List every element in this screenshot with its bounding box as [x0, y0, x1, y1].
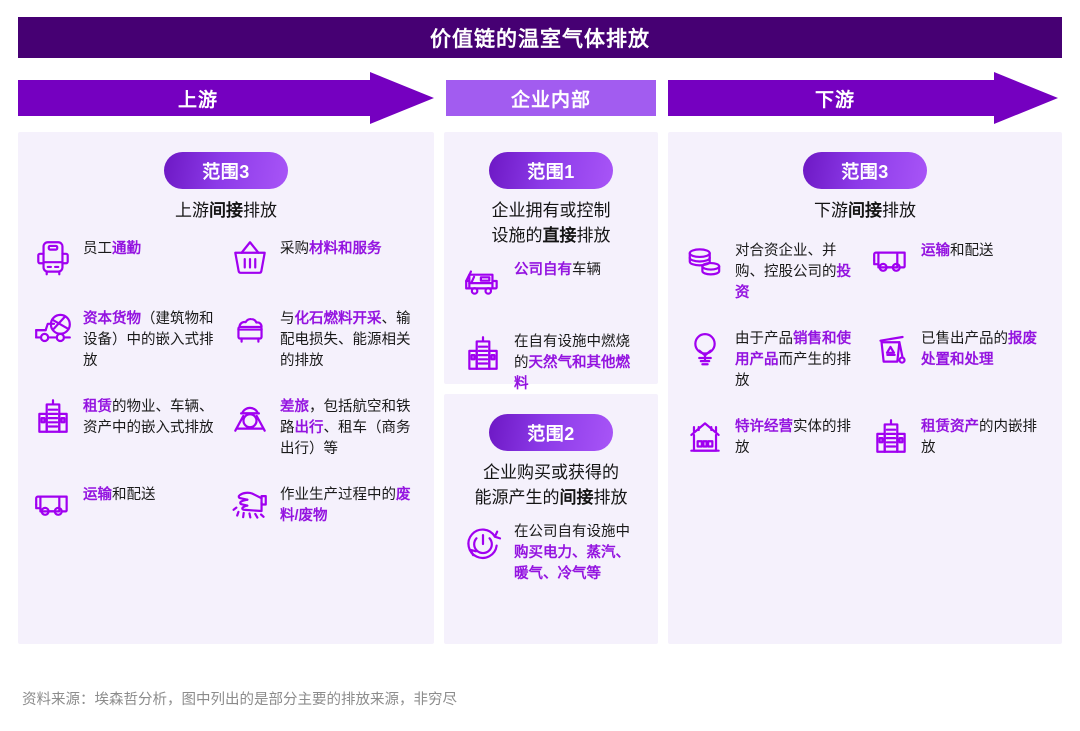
phase-arrow-upstream: 上游: [18, 72, 434, 124]
emission-source-text: 员工通勤: [83, 235, 141, 260]
chart-title-bar: 价值链的温室气体排放: [18, 17, 1062, 58]
scope-badge-scope2: 范围2: [489, 414, 613, 451]
panel-heading-downstream: 下游间接排放: [678, 198, 1052, 223]
phase-label-downstream: 下游: [815, 85, 855, 112]
emission-source-text: 公司自有车辆: [514, 258, 601, 281]
infographic-canvas: 价值链的温室气体排放 上游 企业内部 下游 范围3 上游间接排放 员工通勤采购材…: [0, 0, 1080, 731]
heading-line2-bold: 间接: [560, 488, 594, 507]
emission-source-item: 差旅，包括航空和铁路出行、租车（商务出行）等: [229, 393, 420, 481]
emission-source-text: 租赁资产的内嵌排放: [921, 413, 1046, 459]
scope-badge-label: 范围2: [527, 420, 575, 446]
emission-source-text: 对合资企业、并购、控股公司的投资: [735, 237, 860, 304]
phase-band-own-operations: 企业内部: [446, 80, 656, 116]
emission-source-text: 运输和配送: [921, 237, 994, 262]
emission-source-text: 作业生产过程中的废料/废物: [280, 481, 420, 527]
source-note: 资料来源：埃森哲分析，图中列出的是部分主要的排放来源，非穷尽: [22, 688, 457, 709]
scope-badge-label: 范围3: [841, 158, 889, 184]
power-cycle-icon: [462, 522, 504, 564]
scope1-item-list: 公司自有车辆在自有设施中燃烧的天然气和其他燃料: [444, 248, 658, 402]
emission-source-text: 租赁的物业、车辆、资产中的嵌入式排放: [83, 393, 223, 439]
emission-source-text: 由于产品销售和使用产品而产生的排放: [735, 325, 860, 392]
coins-icon: [684, 239, 726, 281]
scope-badge-scope1: 范围1: [489, 152, 613, 189]
panel-scope2: 范围2 企业购买或获得的 能源产生的间接排放 在公司自有设施中购买电力、蒸汽、暖…: [444, 394, 658, 644]
panel-upstream: 范围3 上游间接排放 员工通勤采购材料和服务资本货物（建筑物和设备）中的嵌入式排…: [18, 132, 434, 644]
emission-source-text: 差旅，包括航空和铁路出行、租车（商务出行）等: [280, 393, 420, 460]
emission-source-item: 员工通勤: [32, 235, 223, 305]
emission-source-item: 运输和配送: [32, 481, 223, 569]
buildings-icon: [870, 415, 912, 457]
emission-source-item: 采购材料和服务: [229, 235, 420, 305]
panel-scope1: 范围1 企业拥有或控制 设施的直接排放 公司自有车辆在自有设施中燃烧的天然气和其…: [444, 132, 658, 384]
bus-icon: [32, 237, 74, 279]
emission-source-item: 与化石燃料开采、输配电损失、能源相关的排放: [229, 305, 420, 393]
heading-prefix: 下游: [814, 201, 848, 220]
heading-line1: 企业拥有或控制: [492, 201, 611, 220]
buildings-icon: [462, 332, 504, 374]
emission-source-text: 已售出产品的报废处置和处理: [921, 325, 1046, 371]
heading-suffix: 排放: [882, 201, 916, 220]
waste-hand-icon: [229, 483, 271, 525]
emission-source-text: 在自有设施中燃烧的天然气和其他燃料: [514, 330, 644, 395]
scope-badge-downstream: 范围3: [803, 152, 927, 189]
emission-source-item: 在自有设施中燃烧的天然气和其他燃料: [462, 330, 644, 402]
heading-line2-suffix: 排放: [594, 488, 628, 507]
emission-source-item: 资本货物（建筑物和设备）中的嵌入式排放: [32, 305, 223, 393]
page-title: 价值链的温室气体排放: [430, 23, 650, 53]
panel-heading-scope1: 企业拥有或控制 设施的直接排放: [454, 198, 648, 248]
emission-source-item: 已售出产品的报废处置和处理: [870, 325, 1046, 413]
emission-source-item: 特许经营实体的排放: [684, 413, 860, 501]
scope-badge-label: 范围3: [202, 158, 250, 184]
emission-source-item: 由于产品销售和使用产品而产生的排放: [684, 325, 860, 413]
panel-heading-upstream: 上游间接排放: [28, 198, 424, 223]
downstream-item-grid: 对合资企业、并购、控股公司的投资运输和配送由于产品销售和使用产品而产生的排放已售…: [668, 223, 1062, 501]
emission-source-item: 租赁资产的内嵌排放: [870, 413, 1046, 501]
emission-source-text: 资本货物（建筑物和设备）中的嵌入式排放: [83, 305, 223, 372]
phase-label-own-operations: 企业内部: [511, 85, 591, 112]
emission-source-text: 在公司自有设施中购买电力、蒸汽、暖气、冷气等: [514, 520, 644, 585]
heading-prefix: 上游: [175, 201, 209, 220]
recycle-bin-icon: [870, 327, 912, 369]
delivery-truck-icon: [32, 483, 74, 525]
scope2-item-list: 在公司自有设施中购买电力、蒸汽、暖气、冷气等: [444, 510, 658, 592]
scope-badge-upstream: 范围3: [164, 152, 288, 189]
heading-line2-bold: 直接: [543, 226, 577, 245]
phase-arrow-downstream: 下游: [668, 72, 1058, 124]
emission-source-text: 特许经营实体的排放: [735, 413, 860, 459]
coal-wagon-icon: [229, 307, 271, 349]
emission-source-item: 租赁的物业、车辆、资产中的嵌入式排放: [32, 393, 223, 481]
buildings-icon: [32, 395, 74, 437]
panel-heading-scope2: 企业购买或获得的 能源产生的间接排放: [454, 460, 648, 510]
emission-source-item: 对合资企业、并购、控股公司的投资: [684, 237, 860, 325]
emission-source-text: 运输和配送: [83, 481, 156, 506]
emission-source-item: 在公司自有设施中购买电力、蒸汽、暖气、冷气等: [462, 520, 644, 592]
heading-line2-suffix: 排放: [577, 226, 611, 245]
heading-bold: 间接: [848, 201, 882, 220]
delivery-truck-icon: [870, 239, 912, 281]
heading-suffix: 排放: [243, 201, 277, 220]
emission-source-item: 公司自有车辆: [462, 258, 644, 330]
panel-downstream: 范围3 下游间接排放 对合资企业、并购、控股公司的投资运输和配送由于产品销售和使…: [668, 132, 1062, 644]
heading-bold: 间接: [209, 201, 243, 220]
emission-source-item: 运输和配送: [870, 237, 1046, 325]
emission-source-text: 与化石燃料开采、输配电损失、能源相关的排放: [280, 305, 420, 372]
house-icon: [684, 415, 726, 457]
emission-source-text: 采购材料和服务: [280, 235, 382, 260]
heading-line2-prefix: 设施的: [492, 226, 543, 245]
heading-line1: 企业购买或获得的: [483, 463, 619, 482]
cement-truck-icon: [32, 307, 74, 349]
scope-badge-label: 范围1: [527, 158, 575, 184]
company-van-icon: [462, 260, 504, 302]
upstream-item-grid: 员工通勤采购材料和服务资本货物（建筑物和设备）中的嵌入式排放与化石燃料开采、输配…: [18, 223, 434, 569]
lightbulb-icon: [684, 327, 726, 369]
basket-icon: [229, 237, 271, 279]
emission-source-item: 作业生产过程中的废料/废物: [229, 481, 420, 569]
heading-line2-prefix: 能源产生的: [475, 488, 560, 507]
phase-label-upstream: 上游: [178, 85, 218, 112]
value-chain-phase-band: 上游 企业内部 下游: [0, 72, 1080, 124]
train-icon: [229, 395, 271, 437]
